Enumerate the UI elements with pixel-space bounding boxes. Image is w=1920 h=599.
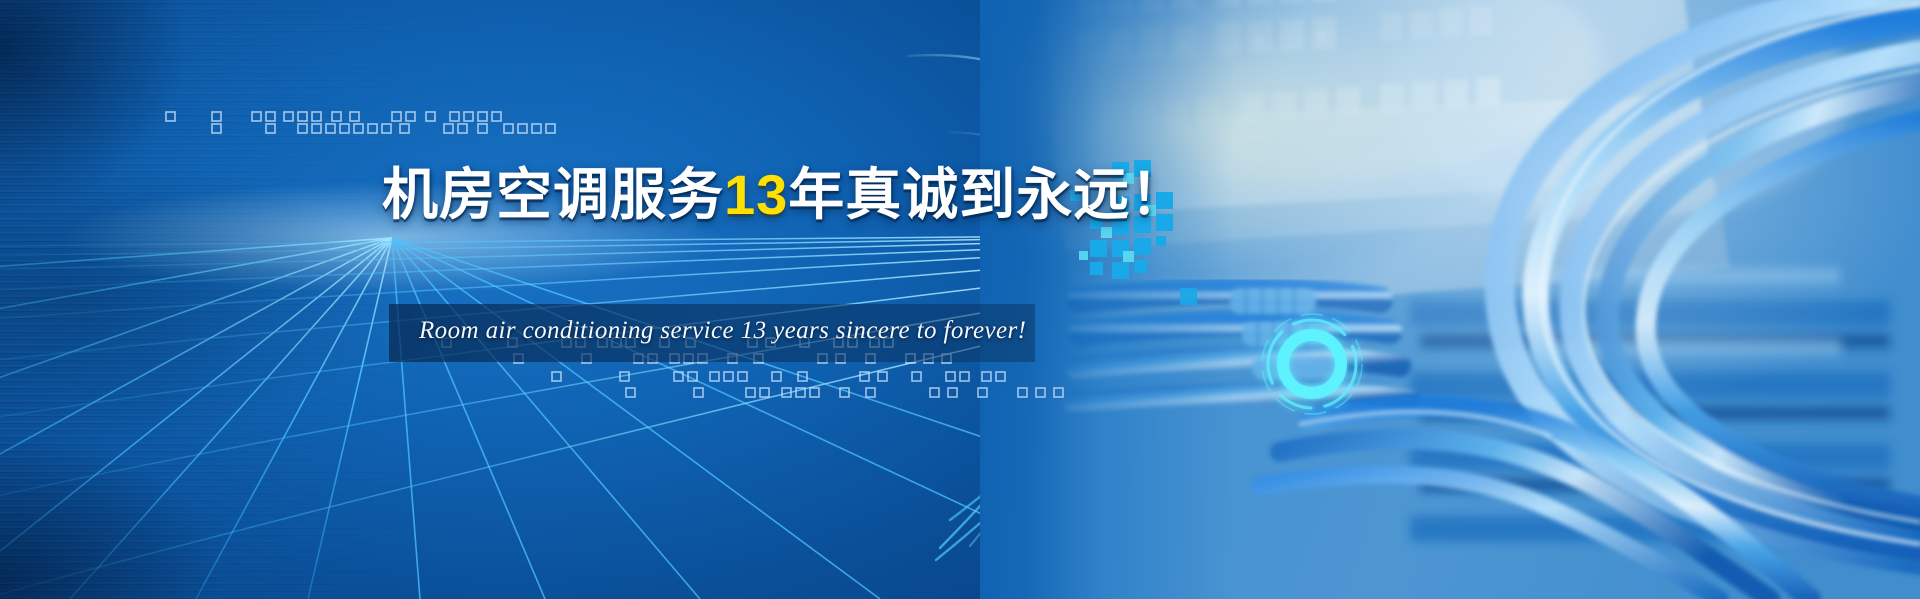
headline: 机房空调服务13年真诚到永远！ xyxy=(382,167,1187,223)
perspective-grid xyxy=(0,0,1080,599)
headline-prefix: 机房空调服务 xyxy=(382,163,724,226)
square-pattern-top xyxy=(160,100,580,140)
subtitle: Room air conditioning service 13 years s… xyxy=(419,317,1026,345)
headline-suffix: 年真诚到永远！ xyxy=(788,163,1187,226)
promo-banner: 机房空调服务13年真诚到永远！ Room air conditioning se… xyxy=(0,0,1920,599)
glowing-ring-icon xyxy=(1248,300,1376,428)
headline-years-number: 13 xyxy=(724,163,788,226)
